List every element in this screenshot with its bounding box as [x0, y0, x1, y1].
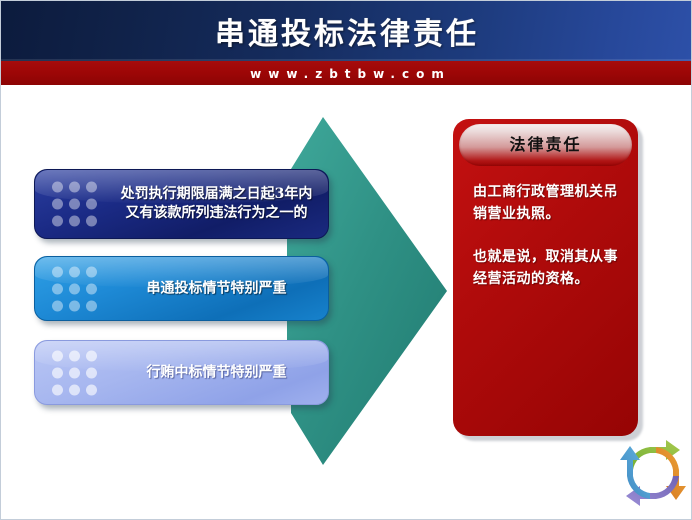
- panel-paragraph: 也就是说，取消其从事经营活动的资格。: [473, 247, 622, 290]
- page-title: 串通投标法律责任: [1, 9, 692, 53]
- dot-grid-icon: [52, 350, 97, 395]
- panel-body: 由工商行政管理机关吊销营业执照。 也就是说，取消其从事经营活动的资格。: [473, 182, 622, 313]
- list-item[interactable]: 处罚执行期限届满之日起3年内 又有该款所列违法行为之一的: [34, 169, 329, 239]
- panel-heading: 法律责任: [459, 124, 632, 166]
- site-url-text: www.zbtbw.com: [1, 62, 692, 86]
- dot-grid-icon: [52, 182, 97, 227]
- list-item-label: 处罚执行期限届满之日起3年内 又有该款所列违法行为之一的: [115, 185, 318, 223]
- list-item-label: 串通投标情节特别严重: [115, 279, 318, 298]
- header-gap: [1, 85, 692, 95]
- list-item[interactable]: 行贿中标情节特别严重: [34, 340, 329, 405]
- legal-liability-panel: 法律责任 由工商行政管理机关吊销营业执照。 也就是说，取消其从事经营活动的资格。: [453, 119, 638, 436]
- recycle-cycle-logo: [618, 438, 688, 508]
- dot-grid-icon: [52, 266, 97, 311]
- list-item[interactable]: 串通投标情节特别严重: [34, 256, 329, 321]
- list-item-label: 行贿中标情节特别严重: [115, 363, 318, 382]
- slide-canvas: 串通投标法律责任 www.zbtbw.com 处罚执行期限届满之日起3年内 又有…: [0, 0, 692, 520]
- panel-paragraph: 由工商行政管理机关吊销营业执照。: [473, 182, 622, 225]
- panel-header-pill: 法律责任: [459, 124, 632, 166]
